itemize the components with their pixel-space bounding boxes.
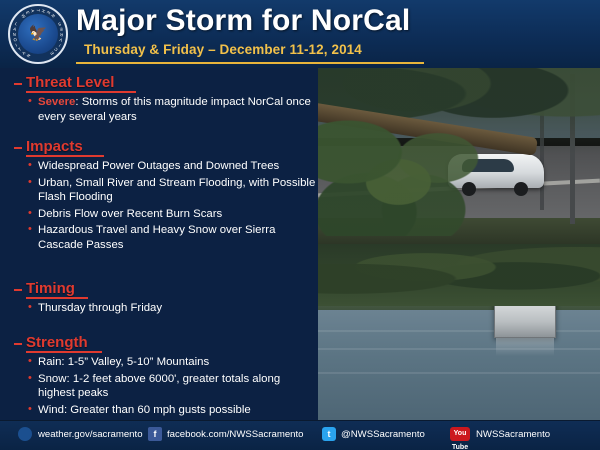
heading-dash-icon xyxy=(14,83,22,85)
bullet-list: Rain: 1-5” Valley, 5-10” Mountains Snow:… xyxy=(14,355,318,417)
footer-bar: weather.gov/sacramento f facebook.com/NW… xyxy=(0,420,600,450)
photo-ripple xyxy=(318,348,600,350)
footer-link-website[interactable]: weather.gov/sacramento xyxy=(38,429,143,440)
bullet-list: Widespread Power Outages and Downed Tree… xyxy=(14,159,318,252)
severity-label: Severe xyxy=(38,96,75,108)
logo-inner-disc: 🦅 xyxy=(18,14,58,54)
bullet-list: Thursday through Friday xyxy=(14,301,162,316)
section-heading: Timing xyxy=(14,280,162,297)
list-item-text: Debris Flow over Recent Burn Scars xyxy=(38,208,222,220)
flooded-river-trailer-photo xyxy=(318,244,600,420)
twitter-icon[interactable]: t xyxy=(322,427,336,441)
photo-trailer-reflection xyxy=(496,338,554,356)
heading-dash-icon xyxy=(14,147,22,149)
content-column: Threat Level Severe: Storms of this magn… xyxy=(0,68,318,420)
list-item-text: : Storms of this magnitude impact NorCal… xyxy=(38,96,311,123)
heading-dash-icon xyxy=(14,343,22,345)
photo-river-near xyxy=(318,306,600,420)
section-heading: Threat Level xyxy=(14,74,318,91)
list-item: Debris Flow over Recent Burn Scars xyxy=(28,207,318,222)
nws-sacramento-logo: NATIONAL WEATHER SERVICE 🦅 xyxy=(8,4,68,64)
section-heading-label: Strength xyxy=(26,334,88,351)
section-timing: Timing Thursday through Friday xyxy=(14,280,162,318)
page-title: Major Storm for NorCal xyxy=(76,4,410,38)
list-item-text: Snow: 1-2 feet above 6000', greater tota… xyxy=(38,373,280,400)
youtube-icon[interactable]: You Tube xyxy=(450,427,470,441)
section-heading-label: Threat Level xyxy=(26,74,114,91)
bullet-list: Severe: Storms of this magnitude impact … xyxy=(14,95,318,124)
section-heading: Strength xyxy=(14,334,318,351)
list-item-text: Widespread Power Outages and Downed Tree… xyxy=(38,160,279,172)
list-item: Snow: 1-2 feet above 6000', greater tota… xyxy=(28,372,318,401)
section-heading: Impacts xyxy=(14,138,318,155)
photo-ripple xyxy=(318,330,600,332)
section-heading-label: Impacts xyxy=(26,138,83,155)
list-item: Hazardous Travel and Heavy Snow over Sie… xyxy=(28,223,318,252)
list-item-text: Urban, Small River and Stream Flooding, … xyxy=(38,177,315,204)
facebook-icon[interactable]: f xyxy=(148,427,162,441)
section-heading-label: Timing xyxy=(26,280,75,297)
section-threat-level: Threat Level Severe: Storms of this magn… xyxy=(14,74,318,126)
heading-underline xyxy=(26,91,136,93)
list-item-text: Thursday through Friday xyxy=(38,302,162,314)
photo-fallen-foliage xyxy=(318,116,492,236)
list-item-text: Rain: 1-5” Valley, 5-10” Mountains xyxy=(38,356,209,368)
heading-underline xyxy=(26,297,88,299)
footer-link-twitter[interactable]: @NWSSacramento xyxy=(341,429,425,440)
page-subtitle: Thursday & Friday – December 11-12, 2014 xyxy=(84,42,362,57)
list-item-text: Wind: Greater than 60 mph gusts possible xyxy=(38,404,251,416)
slide-root: NATIONAL WEATHER SERVICE 🦅 Major Storm f… xyxy=(0,0,600,450)
section-strength: Strength Rain: 1-5” Valley, 5-10” Mounta… xyxy=(14,334,318,419)
eagle-icon: 🦅 xyxy=(24,26,52,42)
list-item: Severe: Storms of this magnitude impact … xyxy=(28,95,318,124)
heading-underline xyxy=(26,155,104,157)
list-item: Widespread Power Outages and Downed Tree… xyxy=(28,159,318,174)
photo-column xyxy=(318,68,600,420)
heading-dash-icon xyxy=(14,289,22,291)
title-underline xyxy=(76,62,424,64)
list-item: Urban, Small River and Stream Flooding, … xyxy=(28,176,318,205)
list-item: Wind: Greater than 60 mph gusts possible xyxy=(28,403,318,418)
header-banner: NATIONAL WEATHER SERVICE 🦅 Major Storm f… xyxy=(0,0,600,70)
list-item: Rain: 1-5” Valley, 5-10” Mountains xyxy=(28,355,318,370)
globe-icon[interactable] xyxy=(18,427,32,441)
section-impacts: Impacts Widespread Power Outages and Dow… xyxy=(14,138,318,254)
footer-link-facebook[interactable]: facebook.com/NWSSacramento xyxy=(167,429,304,440)
list-item: Thursday through Friday xyxy=(28,301,162,316)
photo-bank-vegetation xyxy=(318,244,600,302)
list-item-text: Hazardous Travel and Heavy Snow over Sie… xyxy=(38,224,275,251)
downed-tree-on-road-photo xyxy=(318,68,600,244)
heading-underline xyxy=(26,351,102,353)
photo-car-wheel xyxy=(514,182,528,196)
footer-link-youtube[interactable]: NWSSacramento xyxy=(476,429,550,440)
photo-ripple xyxy=(318,372,600,374)
